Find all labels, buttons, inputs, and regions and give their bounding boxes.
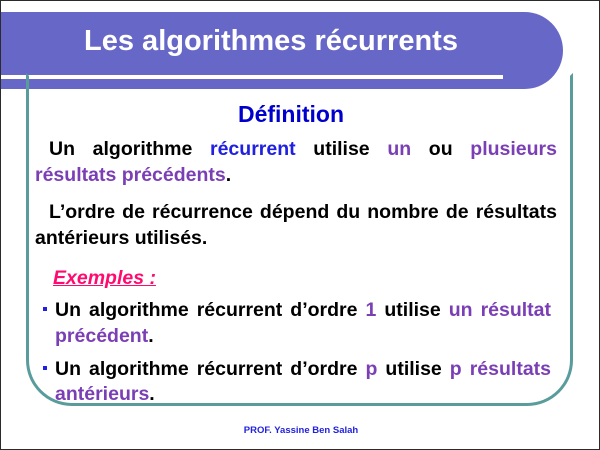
bullet-1-order-value: 1	[366, 299, 377, 321]
bullet-1-text: Un algorithme récurrent d’ordre 1 utilis…	[55, 298, 565, 350]
title-underline-rule	[1, 75, 503, 79]
bullet-2-order-value: p	[366, 358, 378, 380]
bullet-2-seg-period: .	[149, 383, 154, 405]
definition-seg-5: ou	[411, 138, 470, 160]
bullet-dot-icon	[35, 298, 55, 311]
slide-content: Définition Un algorithme récurrent utili…	[35, 101, 565, 415]
definition-seg-3: utilise	[296, 138, 388, 160]
order-paragraph: L’ordre de récurrence dépend du nombre d…	[35, 200, 565, 252]
examples-list: Un algorithme récurrent d’ordre 1 utilis…	[35, 298, 565, 409]
slide: Les algorithmes récurrents Définition Un…	[0, 0, 600, 450]
definition-seg-1: Un algorithme	[49, 138, 210, 160]
bullet-1-seg-period: .	[148, 325, 153, 347]
examples-label: Exemples :	[53, 267, 156, 290]
list-item: Un algorithme récurrent d’ordre p utilis…	[35, 357, 565, 409]
bullet-1-seg-3: utilise	[376, 299, 448, 321]
bullet-1-seg-1: Un algorithme récurrent d’ordre	[55, 299, 366, 321]
section-heading: Définition	[35, 101, 565, 128]
examples-label-wrap: Exemples :	[35, 258, 565, 294]
title-bar: Les algorithmes récurrents	[0, 12, 563, 89]
definition-paragraph: Un algorithme récurrent utilise un ou pl…	[35, 137, 565, 189]
bullet-2-text: Un algorithme récurrent d’ordre p utilis…	[55, 357, 565, 409]
definition-seg-recurrent: récurrent	[210, 138, 296, 160]
definition-seg-period: .	[226, 164, 231, 186]
slide-title: Les algorithmes récurrents	[1, 12, 541, 70]
list-item: Un algorithme récurrent d’ordre 1 utilis…	[35, 298, 565, 350]
bullet-dot-icon	[35, 357, 55, 370]
bullet-2-seg-1: Un algorithme récurrent d’ordre	[55, 358, 366, 380]
slide-footer: PROF. Yassine Ben Salah	[1, 425, 600, 436]
definition-seg-un: un	[387, 138, 411, 160]
bullet-2-seg-3: utilise	[377, 358, 449, 380]
